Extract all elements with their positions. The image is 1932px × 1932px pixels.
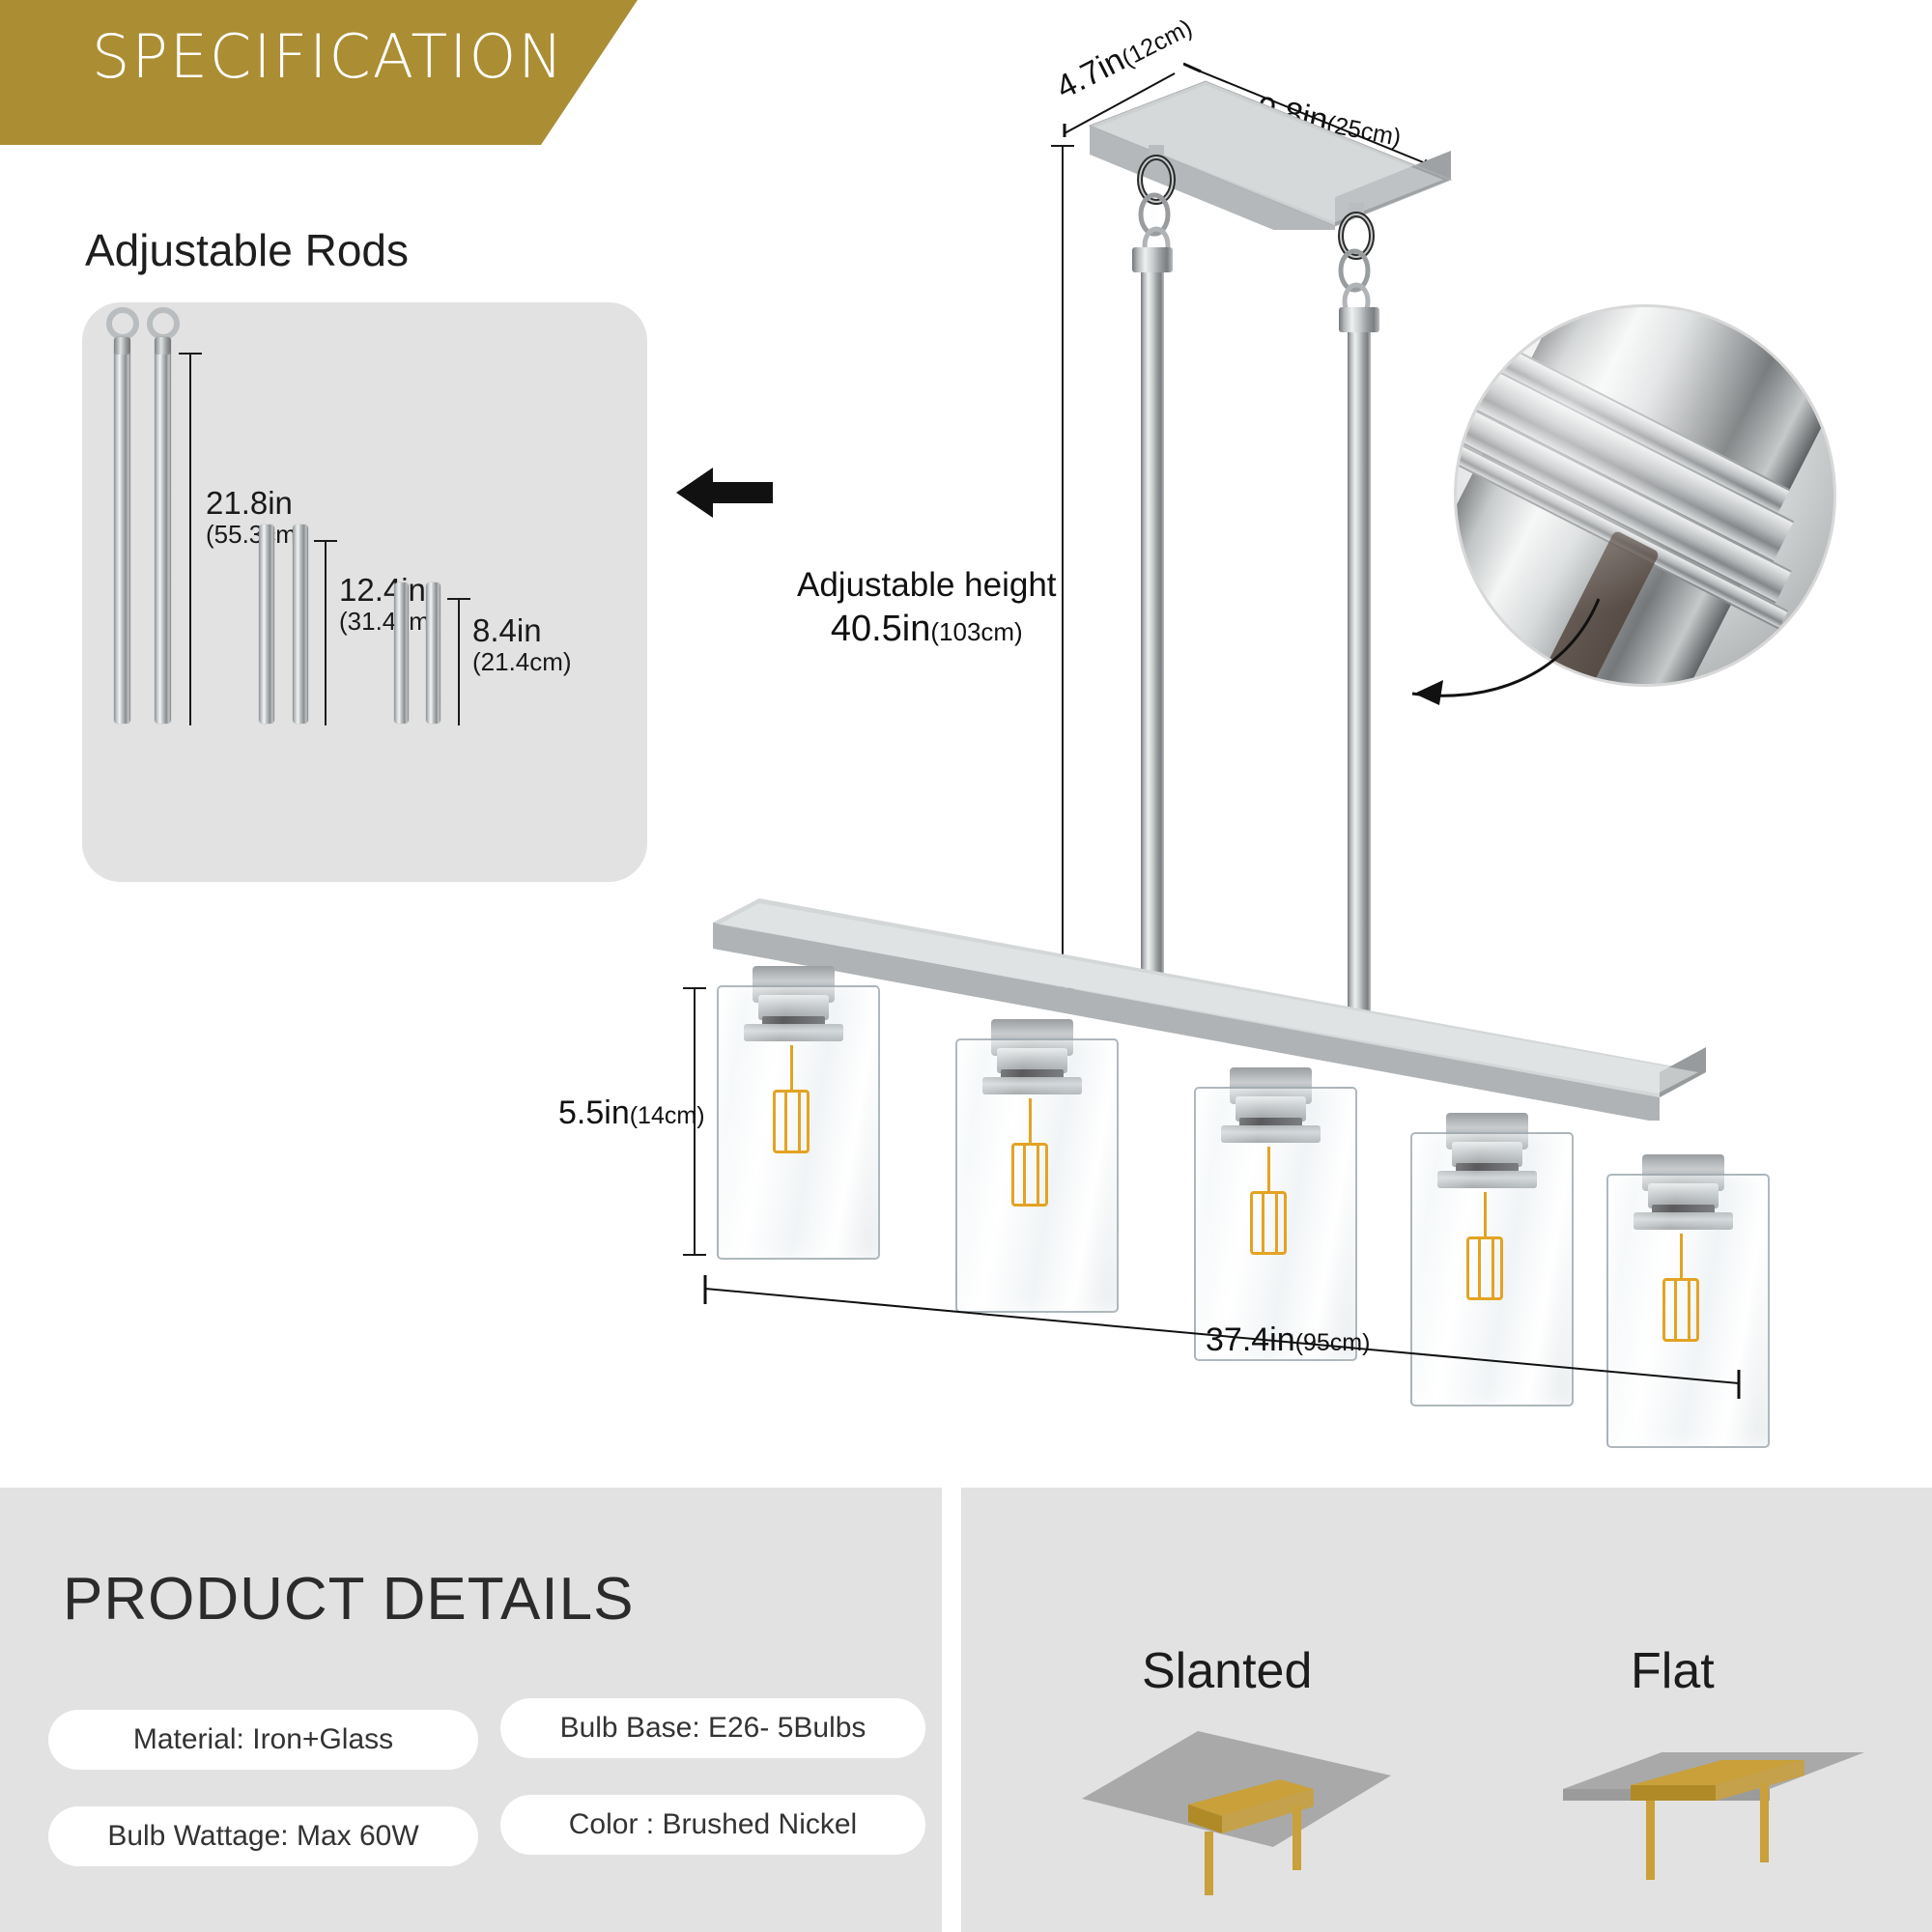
suspension-rod-left [1141,255,1164,989]
rod-medium-1 [259,525,274,724]
rod-ring-icon [106,307,139,340]
curved-callout-arrow-icon [1372,589,1613,720]
filament-icon [1011,1143,1048,1207]
rod-short-1 [394,582,409,724]
banner-title: SPECIFICATION [92,21,565,92]
detail-pill-label: Bulb Base: E26- 5Bulbs [560,1712,867,1745]
filament-icon [773,1090,810,1153]
adjustable-rods-heading: Adjustable Rods [85,224,409,276]
flat-mount-illustration [1546,1729,1874,1922]
shade-height-cap-bottom [683,1254,706,1256]
specification-page: SPECIFICATION Adjustable Rods 21.8in (55… [0,0,1932,1932]
slanted-mount-illustration [1072,1719,1401,1922]
adjustable-height-cap-top [1051,145,1074,147]
chain-right [1325,203,1393,324]
mounting-option-slanted-title: Slanted [1142,1642,1312,1700]
filament-icon [1250,1191,1287,1255]
rod-short-2 [426,582,440,724]
detail-pill-material[interactable]: Material: Iron+Glass [48,1710,478,1770]
fixture-length-label: 37.4in(95cm) [1206,1321,1370,1359]
adjustable-rods-panel: 21.8in (55.3cm) 12.4in (31.4cm) 8.4in (2… [82,302,647,882]
shade-height-cap-top [683,987,706,989]
rod-short-dimension-label: 8.4in (21.4cm) [472,613,572,675]
detail-pill-color[interactable]: Color : Brushed Nickel [500,1795,925,1855]
detail-pill-label: Color : Brushed Nickel [569,1808,857,1841]
chain-left [1125,145,1193,261]
shade-height-label: 5.5in(14cm) [558,1094,705,1132]
left-arrow-icon [676,464,773,522]
adjustable-height-dim-line [1062,145,1064,990]
detail-pill-label: Bulb Wattage: Max 60W [107,1820,418,1853]
dim-line-medium [325,540,327,725]
rod-ring-icon [147,307,180,340]
rod-medium-2 [293,525,308,724]
detail-pill-label: Material: Iron+Glass [133,1723,393,1756]
product-details-title: PRODUCT DETAILS [63,1565,634,1634]
rod-collar-left [1132,247,1173,272]
rod-medium-dimension-label: 12.4in (31.4cm) [339,573,439,635]
dim-line-long [189,353,191,725]
mounting-option-flat-title: Flat [1631,1642,1715,1700]
adjustable-height-label: Adjustable height 40.5in(103cm) [797,565,1057,651]
dim-line-short [458,598,460,725]
rod-long-dimension-label: 21.8in (55.3cm) [206,486,305,548]
detail-pill-wattage[interactable]: Bulb Wattage: Max 60W [48,1806,478,1866]
rod-collar-right [1339,307,1379,332]
detail-pill-bulb-base[interactable]: Bulb Base: E26- 5Bulbs [500,1698,925,1758]
